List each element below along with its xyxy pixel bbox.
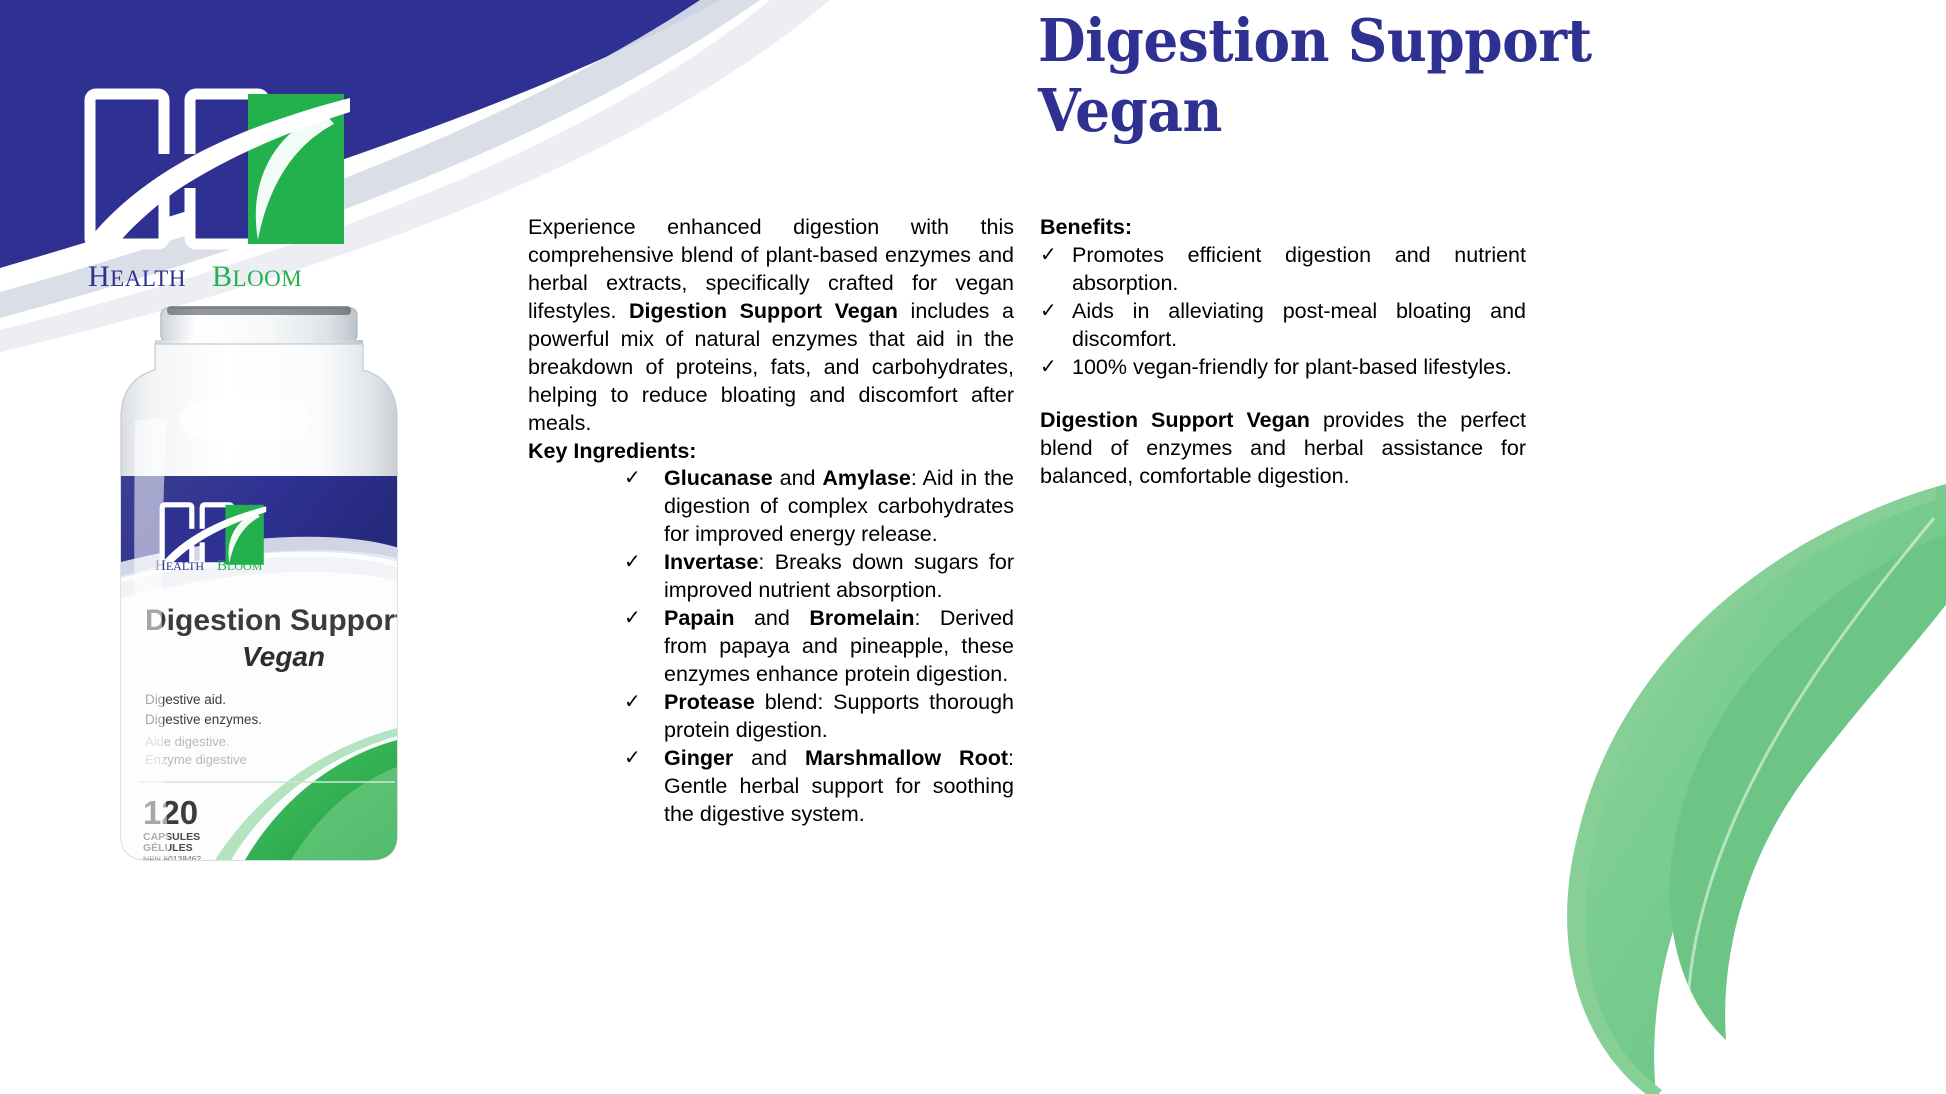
ingredient-term-1: Ginger <box>664 746 733 770</box>
key-ingredients-list: ✓Glucanase and Amylase: Aid in the diges… <box>624 465 1014 828</box>
product-bottle-image: HEALTH BLOOM Digestion Support Vegan Dig… <box>95 300 435 870</box>
product-marketing-page: HEALTH BLOOM <box>0 0 1946 1094</box>
left-text-column: Experience enhanced digestion with this … <box>528 214 1014 829</box>
benefit-text: 100% vegan-friendly for plant-based life… <box>1072 355 1512 379</box>
check-icon: ✓ <box>624 605 641 631</box>
check-icon: ✓ <box>624 745 641 771</box>
ingredient-item: ✓Papain and Bromelain: Derived from papa… <box>624 605 1014 689</box>
right-text-column: Benefits: ✓Promotes efficient digestion … <box>1040 214 1526 490</box>
page-title-line2: Vegan <box>1038 76 1615 146</box>
check-icon: ✓ <box>1040 298 1057 324</box>
benefit-item: ✓100% vegan-friendly for plant-based lif… <box>1040 354 1526 382</box>
intro-product-name: Digestion Support Vegan <box>629 299 898 323</box>
intro-paragraph: Experience enhanced digestion with this … <box>528 214 1014 438</box>
check-icon: ✓ <box>624 465 641 491</box>
ingredient-item: ✓Ginger and Marshmallow Root: Gentle her… <box>624 745 1014 829</box>
ingredient-conjunction: and <box>733 746 805 770</box>
benefits-heading: Benefits: <box>1040 214 1526 242</box>
ingredient-item: ✓Glucanase and Amylase: Aid in the diges… <box>624 465 1014 549</box>
benefit-item: ✓Aids in alleviating post-meal bloating … <box>1040 298 1526 354</box>
benefit-text: Promotes efficient digestion and nutrien… <box>1072 243 1526 295</box>
ingredient-term-2: Bromelain <box>809 606 914 630</box>
ingredient-term-2: Marshmallow Root <box>805 746 1008 770</box>
benefit-item: ✓Promotes efficient digestion and nutrie… <box>1040 242 1526 298</box>
check-icon: ✓ <box>624 549 641 575</box>
ingredient-term-1: Papain <box>664 606 735 630</box>
bottle-wordmark-bloom: BLOOM <box>217 558 263 574</box>
closing-paragraph: Digestion Support Vegan provides the per… <box>1040 407 1526 491</box>
logo-wordmark-bloom: BLOOM <box>212 260 302 293</box>
column-spacer <box>1040 382 1526 407</box>
bottle-product-name: Digestion Support <box>145 604 405 637</box>
key-ingredients-heading: Key Ingredients: <box>528 438 1014 466</box>
check-icon: ✓ <box>624 689 641 715</box>
ingredient-conjunction: and <box>773 466 823 490</box>
check-icon: ✓ <box>1040 242 1057 268</box>
bottle-product-variant: Vegan <box>242 641 325 672</box>
benefit-text: Aids in alleviating post-meal bloating a… <box>1072 299 1526 351</box>
check-icon: ✓ <box>1040 354 1057 380</box>
logo-wordmark-health: HEALTH <box>88 260 186 293</box>
ingredient-term-1: Glucanase <box>664 466 773 490</box>
ingredient-item: ✓Protease blend: Supports thorough prote… <box>624 689 1014 745</box>
closing-product-name: Digestion Support Vegan <box>1040 408 1310 432</box>
brand-logo: HEALTH BLOOM <box>72 72 372 302</box>
ingredient-item: ✓Invertase: Breaks down sugars for impro… <box>624 549 1014 605</box>
decorative-leaf-graphic <box>1516 474 1946 1094</box>
page-title-line1: Digestion Support <box>1038 6 1615 76</box>
ingredient-term-2: Amylase <box>822 466 910 490</box>
ingredient-term-1: Invertase <box>664 550 758 574</box>
ingredient-term-1: Protease <box>664 690 755 714</box>
bottle-wordmark-health: HEALTH <box>155 558 204 574</box>
ingredient-conjunction: and <box>735 606 810 630</box>
benefits-list: ✓Promotes efficient digestion and nutrie… <box>1040 242 1526 382</box>
page-title: Digestion Support Vegan <box>1038 6 1615 145</box>
